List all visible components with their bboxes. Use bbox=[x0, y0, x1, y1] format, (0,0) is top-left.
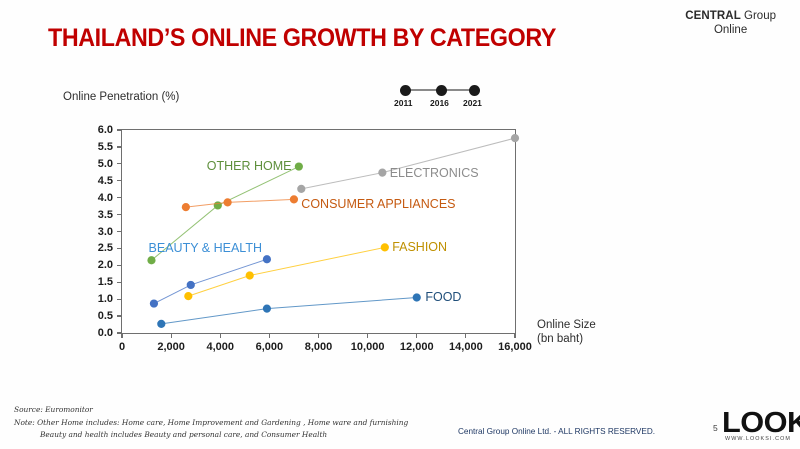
y-axis-tick-mark bbox=[117, 248, 122, 249]
y-axis-tick-label: 3.0 bbox=[79, 226, 113, 238]
series-line bbox=[301, 138, 515, 189]
page-number: 5 bbox=[713, 423, 718, 433]
x-axis-tick-label: 16,000 bbox=[498, 341, 532, 353]
series-label: FASHION bbox=[392, 240, 447, 254]
y-axis-tick-mark bbox=[117, 282, 122, 283]
y-axis-tick-label: 5.0 bbox=[79, 158, 113, 170]
x-axis-tick-label: 6,000 bbox=[256, 341, 284, 353]
looksi-url: WWW.LOOKSI.COM bbox=[725, 436, 791, 442]
slide-canvas: CENTRAL Group Online THAILAND’S ONLINE G… bbox=[0, 0, 800, 449]
footnotes: Source: Euromonitor Note: Other Home inc… bbox=[14, 404, 408, 442]
data-point bbox=[381, 243, 389, 251]
y-axis-tick-mark bbox=[117, 315, 122, 316]
legend-dot-2011 bbox=[400, 85, 411, 96]
y-axis-tick-label: 3.5 bbox=[79, 209, 113, 221]
y-axis-tick-label: 4.0 bbox=[79, 192, 113, 204]
x-axis-tick-mark bbox=[465, 333, 466, 338]
y-axis-title: Online Penetration (%) bbox=[63, 91, 179, 103]
data-point bbox=[184, 292, 192, 300]
x-axis-tick-mark bbox=[318, 333, 319, 338]
y-axis-tick-mark bbox=[117, 299, 122, 300]
x-axis-title-line2: (bn baht) bbox=[537, 332, 596, 346]
data-point bbox=[297, 185, 305, 193]
data-point bbox=[413, 293, 421, 301]
y-axis-tick-mark bbox=[117, 129, 122, 130]
y-axis-tick-label: 4.5 bbox=[79, 175, 113, 187]
y-axis-tick-label: 1.0 bbox=[79, 293, 113, 305]
x-axis-tick-mark bbox=[121, 333, 122, 338]
legend-dot-2016 bbox=[436, 85, 447, 96]
x-axis-tick-label: 0 bbox=[119, 341, 125, 353]
y-axis-tick-mark bbox=[117, 265, 122, 266]
footnote-note-2: Beauty and health includes Beauty and pe… bbox=[14, 429, 408, 442]
x-axis-tick-mark bbox=[514, 333, 515, 338]
legend-label-2016: 2016 bbox=[430, 98, 449, 108]
series-line bbox=[186, 199, 294, 207]
data-point bbox=[182, 203, 190, 211]
data-point bbox=[224, 198, 232, 206]
x-axis-title-line1: Online Size bbox=[537, 318, 596, 332]
y-axis-tick-label: 1.5 bbox=[79, 276, 113, 288]
x-axis-tick-mark bbox=[220, 333, 221, 338]
x-axis-tick-mark bbox=[269, 333, 270, 338]
data-point bbox=[511, 134, 519, 142]
x-axis-tick-mark bbox=[416, 333, 417, 338]
x-axis-tick-mark bbox=[367, 333, 368, 338]
x-axis-tick-label: 8,000 bbox=[305, 341, 333, 353]
year-legend: 2011 2016 2021 bbox=[396, 82, 492, 112]
data-point bbox=[214, 201, 222, 209]
series-label: OTHER HOME bbox=[207, 159, 292, 173]
legend-label-2011: 2011 bbox=[394, 98, 412, 108]
x-axis-tick-label: 10,000 bbox=[351, 341, 385, 353]
x-axis-tick-label: 2,000 bbox=[157, 341, 185, 353]
looksi-logo: LOOKSI WWW.LOOKSI.COM bbox=[722, 409, 800, 445]
x-axis-tick-mark bbox=[171, 333, 172, 338]
y-axis-tick-label: 2.5 bbox=[79, 242, 113, 254]
data-point bbox=[263, 255, 271, 263]
plot-area: 0.00.51.01.52.02.53.03.54.04.55.05.56.00… bbox=[121, 129, 516, 334]
y-axis-tick-mark bbox=[117, 180, 122, 181]
x-axis-title: Online Size (bn baht) bbox=[537, 318, 596, 347]
x-axis-tick-label: 4,000 bbox=[206, 341, 234, 353]
footnote-source: Source: Euromonitor bbox=[14, 404, 408, 417]
y-axis-tick-label: 2.0 bbox=[79, 259, 113, 271]
series-line bbox=[161, 297, 416, 323]
series-label: BEAUTY & HEALTH bbox=[149, 241, 262, 255]
y-axis-tick-mark bbox=[117, 197, 122, 198]
data-point bbox=[378, 169, 386, 177]
data-point bbox=[147, 256, 155, 264]
y-axis-tick-mark bbox=[117, 231, 122, 232]
data-point bbox=[290, 195, 298, 203]
copyright-text: Central Group Online Ltd. - ALL RIGHTS R… bbox=[458, 427, 655, 436]
data-point bbox=[187, 281, 195, 289]
chart-container: Online Penetration (%) Online Size (bn b… bbox=[0, 0, 800, 449]
data-point bbox=[295, 162, 303, 170]
x-axis-tick-label: 14,000 bbox=[449, 341, 483, 353]
series-label: CONSUMER APPLIANCES bbox=[301, 197, 455, 211]
y-axis-tick-mark bbox=[117, 214, 122, 215]
series-line bbox=[154, 259, 267, 303]
y-axis-tick-mark bbox=[117, 163, 122, 164]
series-label: ELECTRONICS bbox=[390, 166, 479, 180]
y-axis-tick-label: 6.0 bbox=[79, 124, 113, 136]
legend-dot-2021 bbox=[469, 85, 480, 96]
data-point bbox=[157, 320, 165, 328]
legend-label-2021: 2021 bbox=[463, 98, 482, 108]
x-axis-tick-label: 12,000 bbox=[400, 341, 434, 353]
data-point bbox=[150, 299, 158, 307]
y-axis-tick-label: 5.5 bbox=[79, 141, 113, 153]
series-label: FOOD bbox=[425, 290, 461, 304]
y-axis-tick-label: 0.5 bbox=[79, 310, 113, 322]
data-point bbox=[246, 271, 254, 279]
y-axis-tick-mark bbox=[117, 146, 122, 147]
y-axis-tick-label: 0.0 bbox=[79, 327, 113, 339]
data-point bbox=[263, 305, 271, 313]
footnote-note-1: Note: Other Home includes: Home care, Ho… bbox=[14, 417, 408, 430]
